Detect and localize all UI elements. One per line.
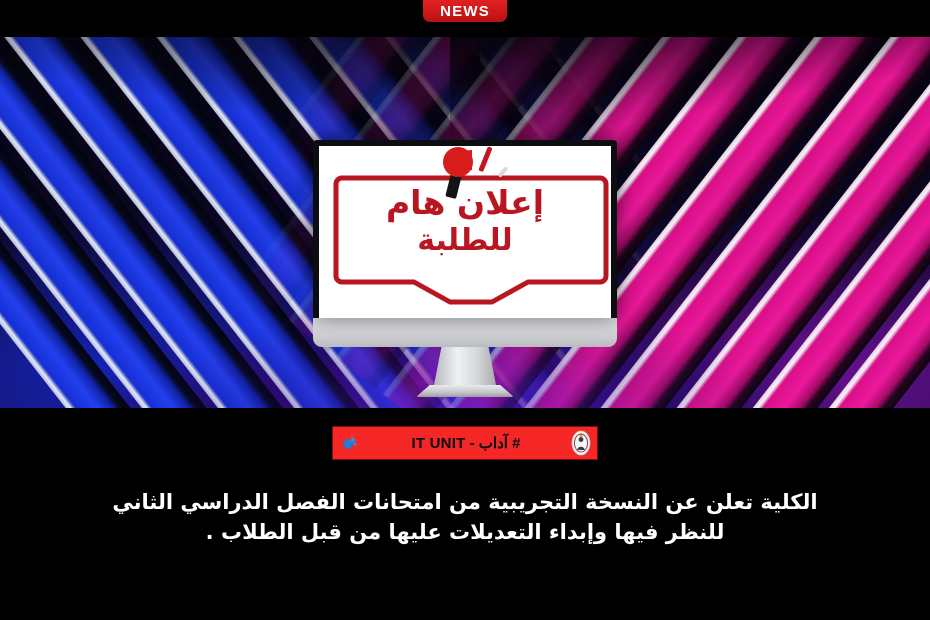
caption-line-1: الكلية تعلن عن النسخة التجريبية من امتحا… [22, 488, 908, 518]
it-unit-banner: # آداب - IT UNIT [332, 426, 598, 460]
monitor-stand-base [416, 385, 514, 397]
microphone-icon [431, 146, 523, 200]
computer-monitor: إعلان هام للطلبة [313, 140, 617, 397]
news-badge-label: NEWS [440, 3, 490, 20]
monitor-screen: إعلان هام للطلبة [319, 146, 611, 318]
neon-background-band: إعلان هام للطلبة [0, 37, 930, 408]
university-crest-icon [571, 430, 591, 456]
announcement-poster: NEWS [0, 0, 930, 620]
balloon-icon [339, 432, 361, 454]
caption-text: الكلية تعلن عن النسخة التجريبية من امتحا… [0, 488, 930, 548]
monitor-stand-neck [434, 347, 496, 385]
monitor-chin [313, 318, 617, 347]
news-badge: NEWS [423, 0, 507, 22]
caption-line-2: للنظر فيها وإبداء التعديلات عليها من قبل… [22, 518, 908, 548]
it-unit-banner-label: # آداب - IT UNIT [361, 434, 571, 452]
monitor-bezel: إعلان هام للطلبة [313, 140, 617, 318]
